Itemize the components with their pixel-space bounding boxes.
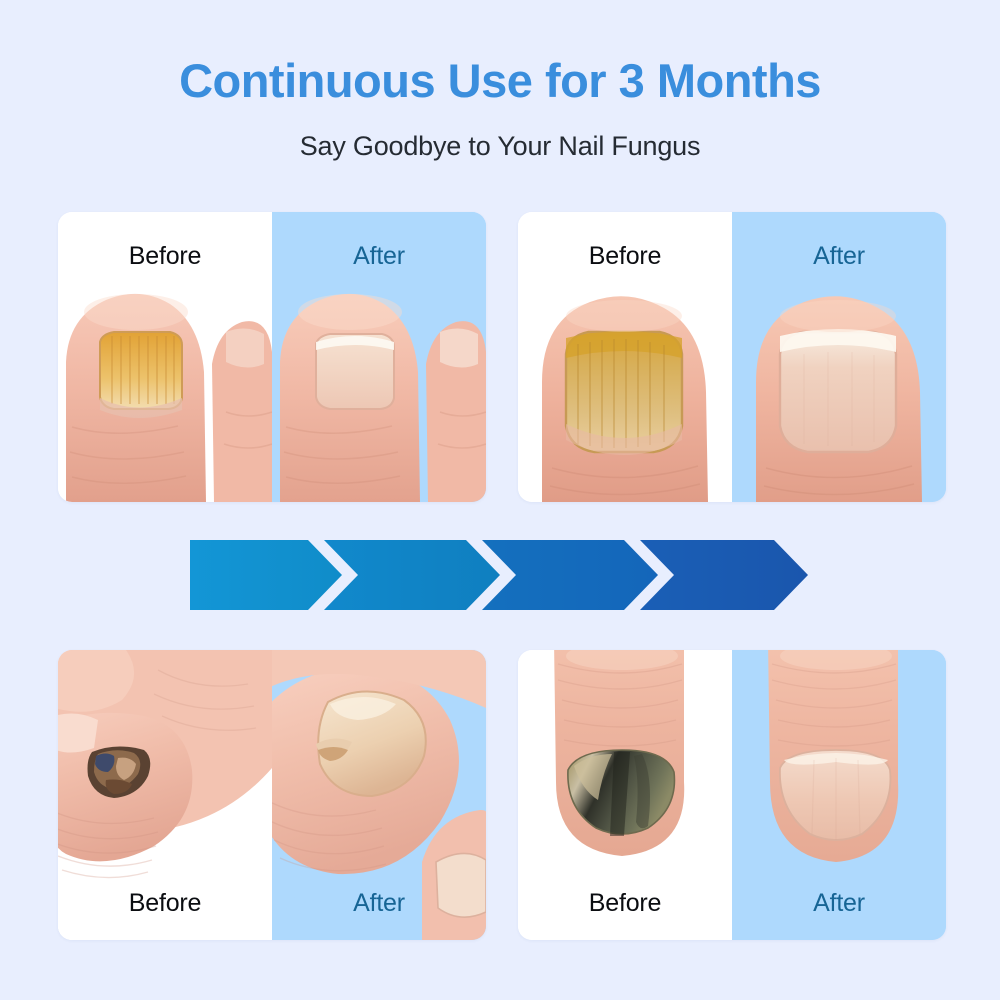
- chevron-arrow: [640, 540, 808, 610]
- label-after: After: [732, 242, 946, 271]
- label-before: Before: [58, 242, 272, 271]
- label-before: Before: [518, 889, 732, 918]
- label-after: After: [272, 242, 486, 271]
- page-subtitle: Say Goodbye to Your Nail Fungus: [0, 131, 1000, 162]
- chevron-arrow: [190, 540, 342, 610]
- comparison-card-top-left: Before: [58, 212, 486, 502]
- label-after: After: [732, 889, 946, 918]
- after-pane: After: [272, 212, 486, 502]
- comparison-card-bottom-right: Before: [518, 650, 946, 940]
- after-pane: After: [732, 212, 946, 502]
- label-after: After: [272, 889, 486, 918]
- label-before: Before: [58, 889, 272, 918]
- label-before: Before: [518, 242, 732, 271]
- comparison-card-bottom-left: Before: [58, 650, 486, 940]
- promo-page: Continuous Use for 3 Months Say Goodbye …: [0, 0, 1000, 1000]
- page-title: Continuous Use for 3 Months: [0, 56, 1000, 107]
- before-pane: Before: [518, 650, 732, 940]
- progress-arrow-band: [190, 538, 808, 612]
- chevron-arrow: [324, 540, 500, 610]
- before-pane: Before: [58, 212, 272, 502]
- comparison-card-top-right: Before: [518, 212, 946, 502]
- after-pane: After: [732, 650, 946, 940]
- before-pane: Before: [518, 212, 732, 502]
- before-pane: Before: [58, 650, 272, 940]
- chevron-arrow: [482, 540, 658, 610]
- after-pane: After: [272, 650, 486, 940]
